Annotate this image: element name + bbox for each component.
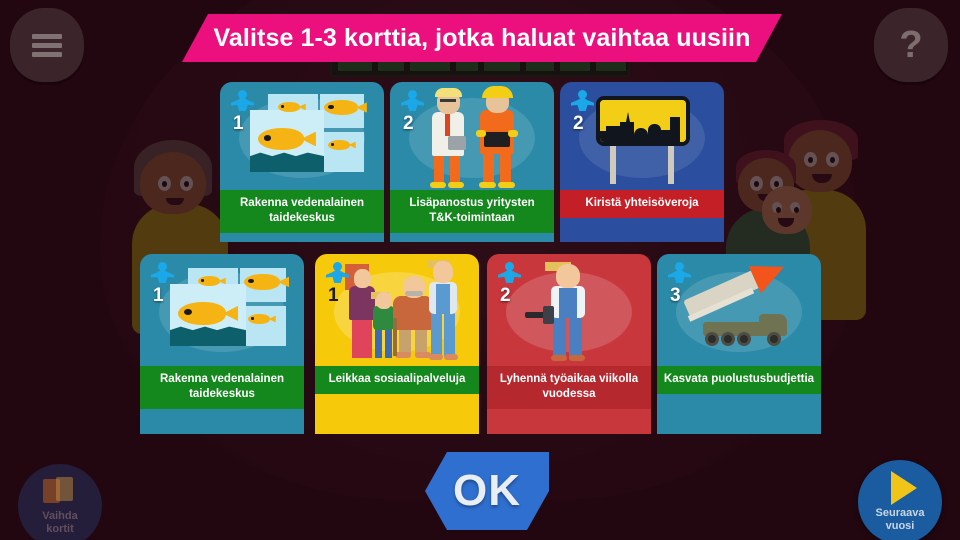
card-title: Rakenna vedenalainen taidekeskus [140,366,304,409]
card-row1-1[interactable]: 2 Lisäpanostus yritysten T&K-toimintaan [390,82,554,242]
instruction-banner: Valitse 1-3 korttia, jotka haluat vaihta… [182,14,782,62]
cost-token-icon [151,262,173,284]
cost-token-icon [668,262,690,284]
card-title: Kiristä yhteisöveroja [560,190,724,218]
card-cost: 2 [573,113,584,135]
card-row2-0[interactable]: 1 Rakenna vedenalainen taidekeskus [140,254,304,434]
billboard-sign [596,96,690,146]
cost-token-icon [571,90,593,112]
card-row2-2[interactable]: 2 Lyhennä työaikaa viikolla vuodessa [487,254,651,434]
ok-button-label: OK [453,466,521,516]
card-row2-3[interactable]: 3 Kasvata puolustusbudjettia [657,254,821,434]
card-row1-0[interactable]: 1 Rakenna vedenalainen taidekeskus [220,82,384,242]
card-art-worker: 2 [487,254,651,366]
ok-button[interactable]: OK [425,452,549,530]
card-art-fish: 1 [220,82,384,190]
card-cost: 3 [670,285,681,307]
card-art-family: 1 [315,254,479,366]
card-title: Lisäpanostus yritysten T&K-toimintaan [390,190,554,233]
card-title: Leikkaa sosiaalipalveluja [315,366,479,394]
card-torn-edge [487,418,651,434]
card-art-fish: 1 [140,254,304,366]
cost-token-icon [498,262,520,284]
scientist-figure [426,88,470,188]
family-man-figure [427,260,459,360]
instruction-text: Valitse 1-3 korttia, jotka haluat vaihta… [214,24,751,53]
card-torn-edge [315,418,479,434]
card-art-billboard: 2 [560,82,724,190]
card-title: Rakenna vedenalainen taidekeskus [220,190,384,233]
card-torn-edge [657,418,821,434]
card-row2-1[interactable]: 1 Leikkaa sosiaalipalveluja [315,254,479,434]
card-title: Lyhennä työaikaa viikolla vuodessa [487,366,651,409]
card-art-missile: 3 [657,254,821,366]
construction-worker-figure [474,86,522,188]
cost-token-icon [231,90,253,112]
card-title: Kasvata puolustusbudjettia [657,366,821,394]
card-art-workers: 2 [390,82,554,190]
card-cost: 2 [403,113,414,135]
card-torn-edge [140,418,304,434]
cost-token-icon [326,262,348,284]
worker-figure [545,262,591,362]
card-cost: 1 [328,285,339,307]
cost-token-icon [401,90,423,112]
card-row1-2[interactable]: 2 Kiristä yhteisöveroja [560,82,724,242]
card-cost: 2 [500,285,511,307]
missile-launcher-figure [675,272,807,352]
card-cost: 1 [153,285,164,307]
card-cost: 1 [233,113,244,135]
